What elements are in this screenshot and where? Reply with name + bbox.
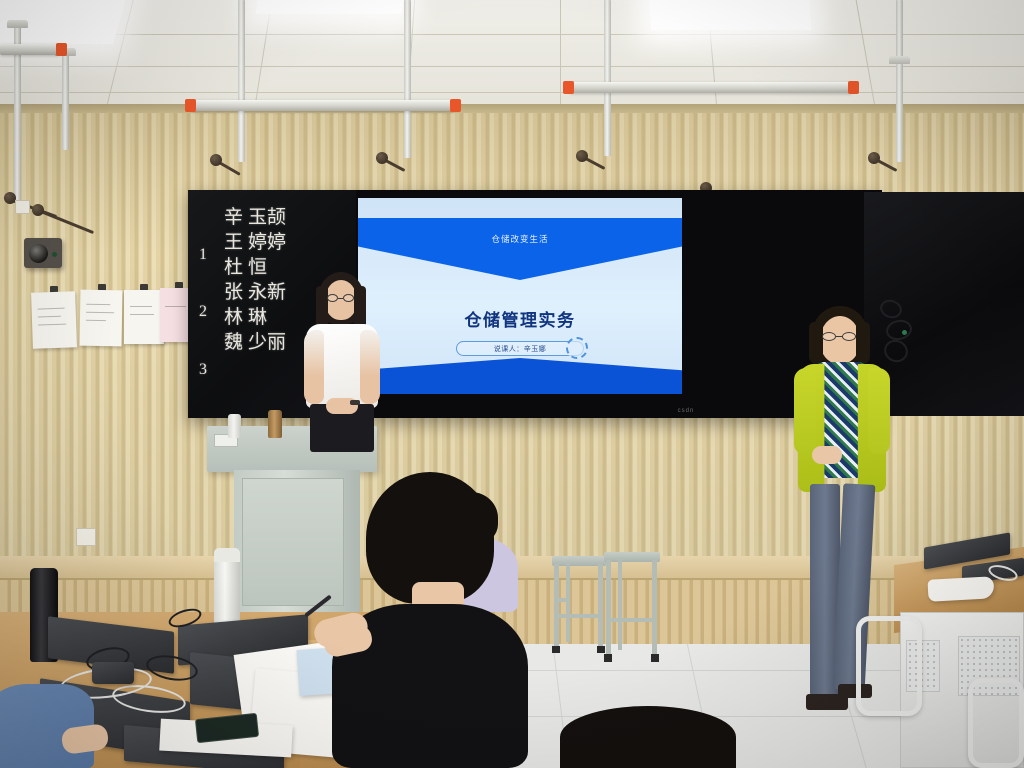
hair <box>560 706 736 768</box>
slide-title-text: 仓储管理实务 <box>358 306 682 331</box>
ceiling-light-bar <box>0 44 60 55</box>
arm-right <box>868 368 890 454</box>
glasses <box>327 294 338 302</box>
glasses <box>842 332 856 341</box>
person-seated-right <box>296 596 406 676</box>
chalk-given-name: 恒 <box>248 258 286 283</box>
chalk-given-name: 永新 <box>248 283 286 308</box>
microphone-head <box>576 150 588 162</box>
person-presenter-at-podium <box>296 272 388 452</box>
glasses <box>822 332 836 341</box>
thermos-cup <box>268 410 282 438</box>
chalk-surname: 王 <box>224 233 243 258</box>
gear-icon <box>566 337 588 359</box>
microphone-head <box>376 152 388 164</box>
hands-clasped <box>812 446 842 464</box>
chalk-surname: 张 <box>224 283 243 308</box>
chalk-surname: 林 <box>224 308 243 333</box>
chalk-surname: 辛 <box>224 208 243 233</box>
ceiling-pole <box>404 0 411 158</box>
wall-paper-notice <box>80 290 123 347</box>
ceiling-light-panel <box>256 0 407 14</box>
hair-side <box>856 322 870 364</box>
slide-header-band <box>358 218 682 280</box>
crumpled-paper <box>927 576 994 601</box>
pen[interactable] <box>304 595 332 618</box>
slide-presenter-pill: 说课人：辛玉娜 <box>456 341 584 356</box>
arm-left <box>304 330 324 404</box>
ceiling-pole <box>62 54 69 150</box>
board-assembly: 1 2 3 4 5 6 辛 王 杜 张 林 魏 玉颉 婷婷 <box>188 190 882 418</box>
microphone-head <box>32 204 44 216</box>
chair[interactable] <box>856 616 922 716</box>
hand-holding-pen <box>311 610 370 650</box>
arm-left <box>794 368 816 454</box>
chalk-given-name: 玉颉 <box>248 208 286 233</box>
microphone-head <box>868 152 880 164</box>
chair[interactable] <box>968 678 1024 768</box>
ceiling-pole <box>896 0 903 162</box>
ceiling-pole <box>238 0 245 162</box>
power-adapter <box>92 662 134 684</box>
chalk-name-column-given: 玉颉 婷婷 恒 永新 琳 少丽 <box>248 208 286 358</box>
person-seated-left-blue <box>0 684 104 768</box>
ceiling-light-bar <box>192 100 454 111</box>
slide-presenter-text: 说课人：辛玉娜 <box>494 344 547 354</box>
wristwatch <box>350 400 360 405</box>
chalk-given-name: 少丽 <box>248 333 286 358</box>
wall-outlet-plate <box>15 200 30 214</box>
chalk-surname: 杜 <box>224 258 243 283</box>
thermos-lid <box>214 548 240 562</box>
ceiling-light-panel <box>649 0 812 30</box>
hand <box>60 723 109 755</box>
chalk-name-column-surname: 辛 王 杜 张 林 魏 <box>224 208 243 358</box>
chalk-given-name: 婷婷 <box>248 233 286 258</box>
arm-right <box>360 330 380 404</box>
microphone-head <box>210 154 222 166</box>
wall-outlet-plate <box>76 528 96 546</box>
chalk-surname: 魏 <box>224 333 243 358</box>
lectern-panel <box>242 478 344 606</box>
chalk-given-name: 琳 <box>248 308 286 333</box>
chalk-number: 3 <box>199 362 231 387</box>
water-bottle <box>228 414 241 438</box>
ptz-camera-lens <box>29 244 48 263</box>
slide-footer-band <box>358 358 682 394</box>
hair-side <box>809 322 823 364</box>
presentation-slide[interactable]: 仓储改变生活 仓储管理实务 说课人：辛玉娜 <box>358 198 682 394</box>
wall-paper-notice <box>31 291 77 349</box>
slide-kicker-text: 仓储改变生活 <box>358 233 682 245</box>
chalkboard-name-list: 辛 王 杜 张 林 魏 玉颉 婷婷 恒 永新 琳 少丽 <box>224 208 286 358</box>
person-foreground-bottom <box>560 706 736 768</box>
ceiling-pole <box>604 0 611 156</box>
ceiling-light-bar <box>570 82 852 93</box>
wall-paper-notice <box>124 290 164 344</box>
glasses <box>343 294 354 302</box>
camera-status-led <box>52 252 57 257</box>
classroom-photo: 1 2 3 4 5 6 辛 王 杜 张 林 魏 玉颉 婷婷 <box>0 0 1024 768</box>
